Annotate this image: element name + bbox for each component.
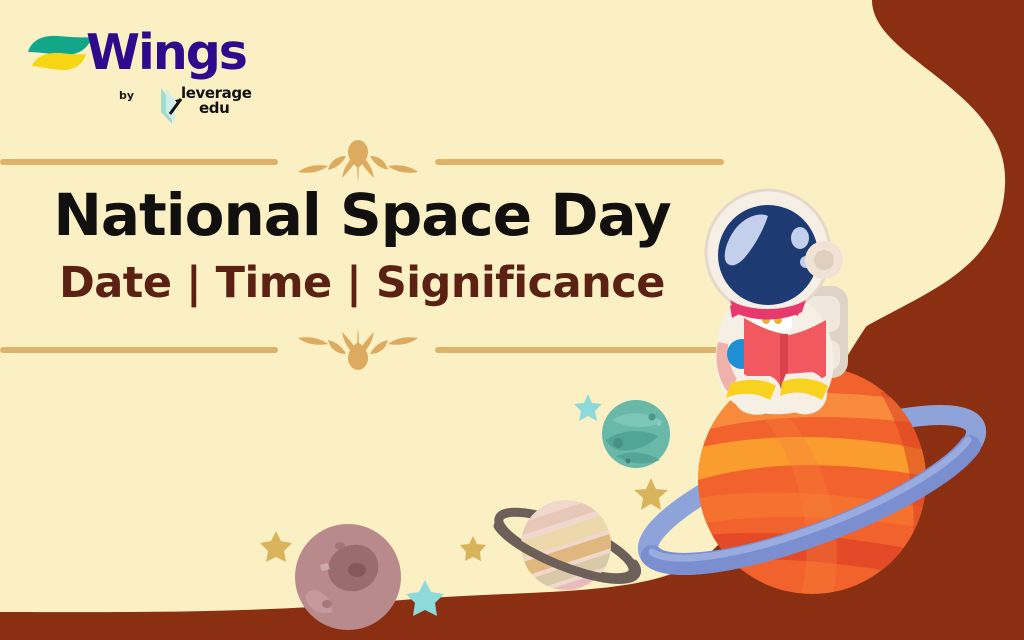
star-gold-upper <box>634 478 668 510</box>
teal-cratered-planet <box>602 400 670 468</box>
space-illustration <box>0 0 1024 640</box>
mauve-continent-planet <box>295 524 401 630</box>
star-teal-upper <box>574 394 602 421</box>
poster-canvas: Wings by leverage edu <box>0 0 1024 640</box>
star-teal-low <box>406 580 444 616</box>
star-gold-mid <box>460 536 486 561</box>
astronaut-reading-book <box>706 190 848 415</box>
saturn-banded-planet <box>492 495 640 609</box>
star-gold-left <box>260 531 292 562</box>
